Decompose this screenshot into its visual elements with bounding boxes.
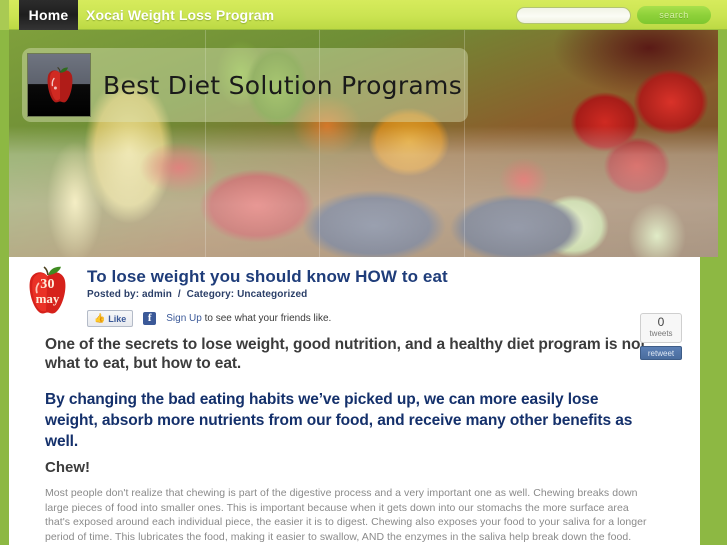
post-subheading: Chew! bbox=[45, 458, 652, 477]
post-highlight-paragraph: By changing the bad eating habits we’ve … bbox=[45, 389, 652, 452]
apple-logo-icon bbox=[27, 53, 91, 117]
retweet-button-label: retweet bbox=[648, 349, 674, 358]
nav-item-home[interactable]: Home bbox=[19, 0, 78, 30]
search-button-label: search bbox=[659, 10, 688, 20]
retweet-button[interactable]: retweet bbox=[640, 346, 682, 360]
post-author[interactable]: admin bbox=[142, 289, 172, 300]
banner-overlay-haze bbox=[9, 126, 718, 257]
apple-logo-glyph bbox=[42, 66, 78, 106]
nav-home-label: Home bbox=[29, 7, 69, 23]
post-date-badge: 30 may bbox=[24, 265, 71, 315]
tweet-count-number: 0 bbox=[641, 316, 681, 329]
site-banner: Best Diet Solution Programs bbox=[9, 30, 718, 257]
post-meta: Posted by: admin / Category: Uncategoriz… bbox=[87, 289, 682, 300]
facebook-like-label: Like bbox=[108, 314, 126, 324]
facebook-f-icon: f bbox=[143, 312, 156, 325]
thumbs-up-icon: 👍 bbox=[94, 313, 105, 324]
social-share-row: 👍 Like f Sign Up to see what your friend… bbox=[87, 310, 682, 327]
nav-item-label: Xocai Weight Loss Program bbox=[86, 7, 274, 23]
facebook-like-button[interactable]: 👍 Like bbox=[87, 310, 133, 327]
search-input[interactable] bbox=[516, 7, 631, 24]
post-body: One of the secrets to lose weight, good … bbox=[27, 335, 682, 544]
search-button[interactable]: search bbox=[637, 6, 711, 24]
facebook-signup-text: Sign Up to see what your friends like. bbox=[166, 313, 331, 324]
post-lead-paragraph: One of the secrets to lose weight, good … bbox=[45, 335, 652, 373]
tweet-count-label: tweets bbox=[641, 329, 681, 339]
facebook-signup-suffix: to see what your friends like. bbox=[205, 313, 332, 324]
site-title: Best Diet Solution Programs bbox=[103, 71, 462, 100]
nav-item-xocai-weight-loss-program[interactable]: Xocai Weight Loss Program bbox=[86, 0, 274, 30]
meta-separator: / bbox=[175, 289, 184, 300]
top-navigation-bar: Home Xocai Weight Loss Program search bbox=[0, 0, 727, 30]
post-header: To lose weight you should know HOW to ea… bbox=[87, 266, 682, 300]
twitter-share-widget: 0 tweets retweet bbox=[640, 313, 682, 360]
site-title-panel[interactable]: Best Diet Solution Programs bbox=[22, 48, 468, 122]
post-category[interactable]: Uncategorized bbox=[237, 289, 307, 300]
nav-left-edge bbox=[0, 0, 9, 30]
main-content-area: 30 may To lose weight you should know HO… bbox=[9, 257, 700, 545]
blog-post: 30 may To lose weight you should know HO… bbox=[9, 257, 700, 544]
posted-by-label: Posted by: bbox=[87, 289, 139, 300]
category-label: Category: bbox=[187, 289, 235, 300]
post-date-month: may bbox=[24, 291, 71, 307]
facebook-signup-link[interactable]: Sign Up bbox=[166, 313, 202, 324]
tweet-count-box: 0 tweets bbox=[640, 313, 682, 343]
page-root: Home Xocai Weight Loss Program search bbox=[0, 0, 727, 545]
post-title[interactable]: To lose weight you should know HOW to ea… bbox=[87, 266, 682, 287]
search-form: search bbox=[516, 6, 711, 24]
post-paragraph: Most people don't realize that chewing i… bbox=[45, 486, 652, 544]
